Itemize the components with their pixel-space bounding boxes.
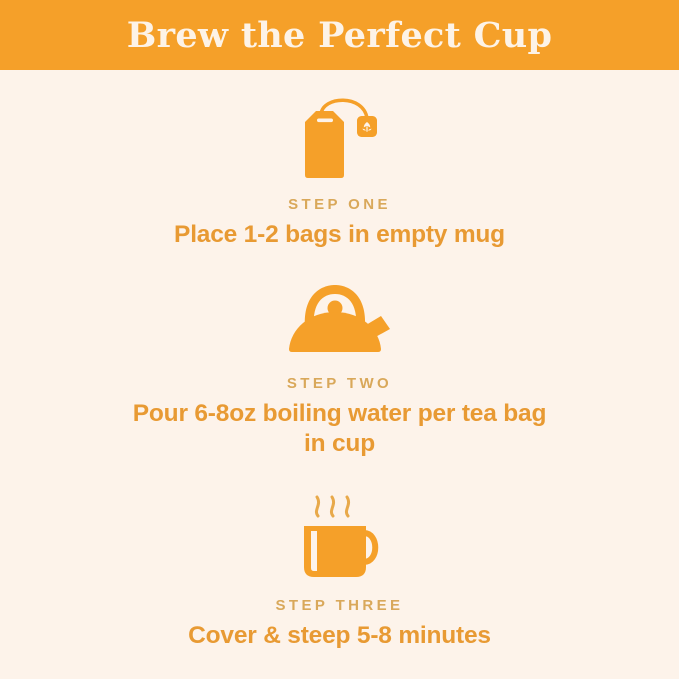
step-item-three: STEP THREE Cover & steep 5-8 minutes [0, 488, 679, 652]
tea-bag-icon [275, 92, 405, 182]
step-item-two: STEP TWO Pour 6-8oz boiling water per te… [0, 281, 679, 460]
page-title: Brew the Perfect Cup [127, 18, 553, 53]
step-item-one: STEP ONE Place 1-2 bags in empty mug [0, 92, 679, 251]
kettle-icon [275, 281, 405, 361]
steps-list: STEP ONE Place 1-2 bags in empty mug [0, 70, 679, 679]
infographic-page: Brew the Perfect Cup [0, 0, 679, 679]
step-label: STEP TWO [287, 375, 392, 392]
steaming-mug-icon [275, 488, 405, 583]
step-label: STEP THREE [276, 597, 404, 614]
step-description: Pour 6-8oz boiling water per tea bag in … [130, 399, 550, 460]
header-band: Brew the Perfect Cup [0, 0, 679, 70]
step-description: Place 1-2 bags in empty mug [174, 220, 505, 251]
step-label: STEP ONE [288, 196, 391, 213]
step-description: Cover & steep 5-8 minutes [188, 621, 491, 652]
